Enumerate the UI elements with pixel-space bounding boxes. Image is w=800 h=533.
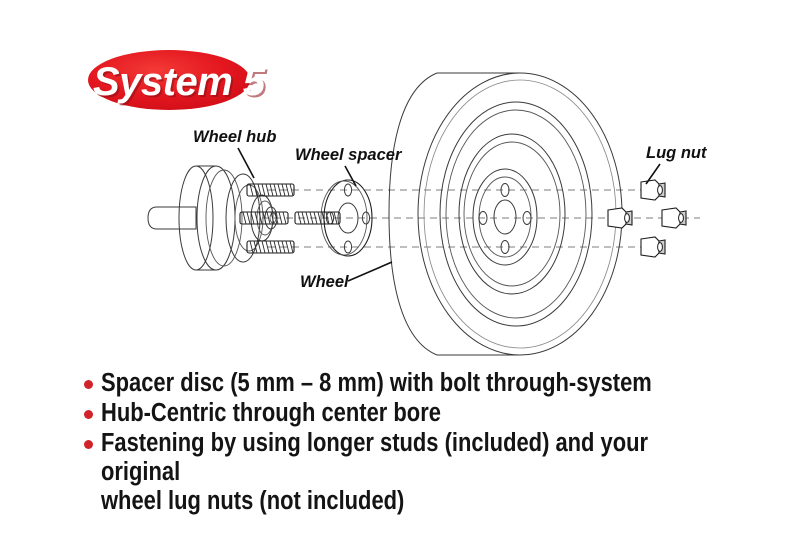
system-5-spacer-infographic: System 5 System 5 — [0, 0, 800, 533]
wheel-assembly — [389, 73, 622, 355]
lug-nut-middle-right — [662, 208, 686, 228]
list-item: Spacer disc (5 mm – 8 mm) with bolt thro… — [84, 369, 774, 398]
axle-shaft — [148, 207, 196, 229]
badge-label: System 5 — [93, 60, 266, 104]
lug-nut-middle-right-bore — [679, 214, 684, 223]
callout-wheel: Wheel — [300, 262, 392, 291]
hub-flange-mid — [206, 170, 242, 266]
bullet-dot-icon — [84, 440, 93, 449]
system-badge: System 5 System 5 — [88, 50, 268, 110]
bullet-dot-icon — [84, 410, 93, 419]
feature-text-2: Hub-Centric through center bore — [101, 399, 441, 428]
tire-left-profile — [389, 73, 437, 355]
lug-nut-bottom-bore — [658, 243, 663, 252]
rim-barrel-outer — [459, 134, 565, 294]
callout-label-wheel: Wheel — [300, 273, 349, 291]
leader-wheel-hub — [238, 148, 254, 178]
wheel-center-bore — [494, 200, 516, 234]
lug-nut-bottom — [641, 237, 665, 257]
lug-nut-top-bore — [658, 186, 663, 195]
tire-outer-ring — [418, 73, 622, 355]
hub-flange-outer — [197, 166, 235, 270]
callout-label-wheel-hub: Wheel hub — [193, 128, 276, 146]
lug-nut-top — [641, 180, 665, 200]
leader-wheel-spacer — [345, 166, 356, 186]
lug-nut-middle-left — [608, 208, 632, 228]
lug-nut-middle-left-bore — [625, 214, 630, 223]
lug-nut-bottom-body — [641, 237, 659, 257]
list-item: Fastening by using longer studs (include… — [84, 429, 774, 516]
feature-list: Spacer disc (5 mm – 8 mm) with bolt thro… — [84, 369, 774, 517]
lug-nut-middle-left-body — [608, 208, 626, 228]
feature-text-1: Spacer disc (5 mm – 8 mm) with bolt thro… — [101, 369, 652, 398]
callout-wheel-hub: Wheel hub — [193, 128, 276, 178]
list-item: Hub-Centric through center bore — [84, 399, 774, 428]
lug-nut-middle-right-body — [662, 208, 680, 228]
lug-nut-top-body — [641, 180, 659, 200]
callout-label-lug-nut: Lug nut — [646, 144, 708, 162]
callout-label-wheel-spacer: Wheel spacer — [295, 146, 403, 164]
callout-lug-nut: Lug nut — [646, 144, 708, 184]
leader-wheel — [348, 262, 392, 281]
wheel-hub-assembly — [148, 166, 340, 270]
bullet-dot-icon — [84, 380, 93, 389]
tire-inner-ring — [424, 80, 616, 348]
feature-text-3: Fastening by using longer studs (include… — [101, 429, 680, 516]
stud-middle-outer-threads — [298, 212, 337, 224]
